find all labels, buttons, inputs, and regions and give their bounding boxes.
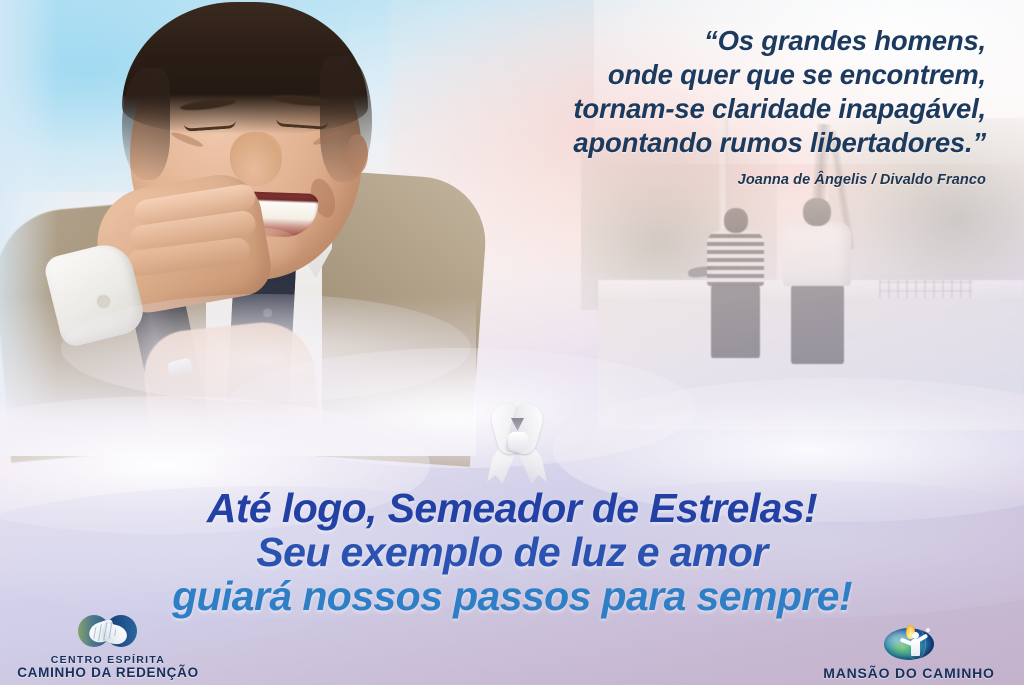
scene-person-striped-head [724, 208, 748, 233]
portrait-hair-left [122, 68, 170, 180]
figure-head [912, 632, 919, 639]
message-line-3: guiará nossos passos para sempre! [0, 574, 1024, 618]
quote-line-2: onde quer que se encontrem, [386, 58, 986, 92]
globe-sparkle [926, 628, 930, 632]
portrait-bottom-fade [0, 296, 476, 456]
scene-person-white-head [803, 198, 830, 226]
figure-body [911, 639, 920, 656]
message-line-2: Seu exemplo de luz e amor [0, 530, 1024, 574]
quote-block: “Os grandes homens, onde quer que se enc… [386, 24, 986, 188]
quote-attribution: Joanna de Ângelis / Divaldo Franco [386, 172, 986, 188]
quote-line-1: “Os grandes homens, [386, 24, 986, 58]
logo-right-caption: MANSÃO DO CAMINHO [804, 666, 1014, 681]
quote-line-4: apontando rumos libertadores.” [386, 126, 986, 160]
portrait-hair-right [320, 56, 372, 182]
poster-canvas: “Os grandes homens, onde quer que se enc… [0, 0, 1024, 685]
globe-torch-figure-icon [882, 624, 936, 664]
scene-person-white-shirt [783, 222, 851, 287]
message-line-1: Até logo, Semeador de Estrelas! [0, 486, 1024, 530]
logo-centro-espirita-caminho-da-redencao: CENTRO ESPÍRITA CAMINHO DA REDENÇÃO [10, 613, 206, 681]
logo-left-caption-large: CAMINHO DA REDENÇÃO [10, 666, 206, 681]
logo-right-caption-text: MANSÃO DO CAMINHO [804, 666, 1014, 681]
logo-mansao-do-caminho: MANSÃO DO CAMINHO [804, 624, 1014, 681]
heart-hands-icon [77, 613, 139, 653]
logo-left-caption: CENTRO ESPÍRITA CAMINHO DA REDENÇÃO [10, 655, 206, 681]
mourning-ribbon-icon [486, 404, 548, 484]
tribute-message: Até logo, Semeador de Estrelas! Seu exem… [0, 486, 1024, 618]
scene-person-striped-legs [711, 283, 760, 358]
ribbon-knot [508, 432, 528, 450]
quote-line-3: tornam-se claridade inapagável, [386, 92, 986, 126]
scene-person-white-legs [791, 283, 845, 364]
scene-person-striped-shirt [707, 231, 764, 287]
